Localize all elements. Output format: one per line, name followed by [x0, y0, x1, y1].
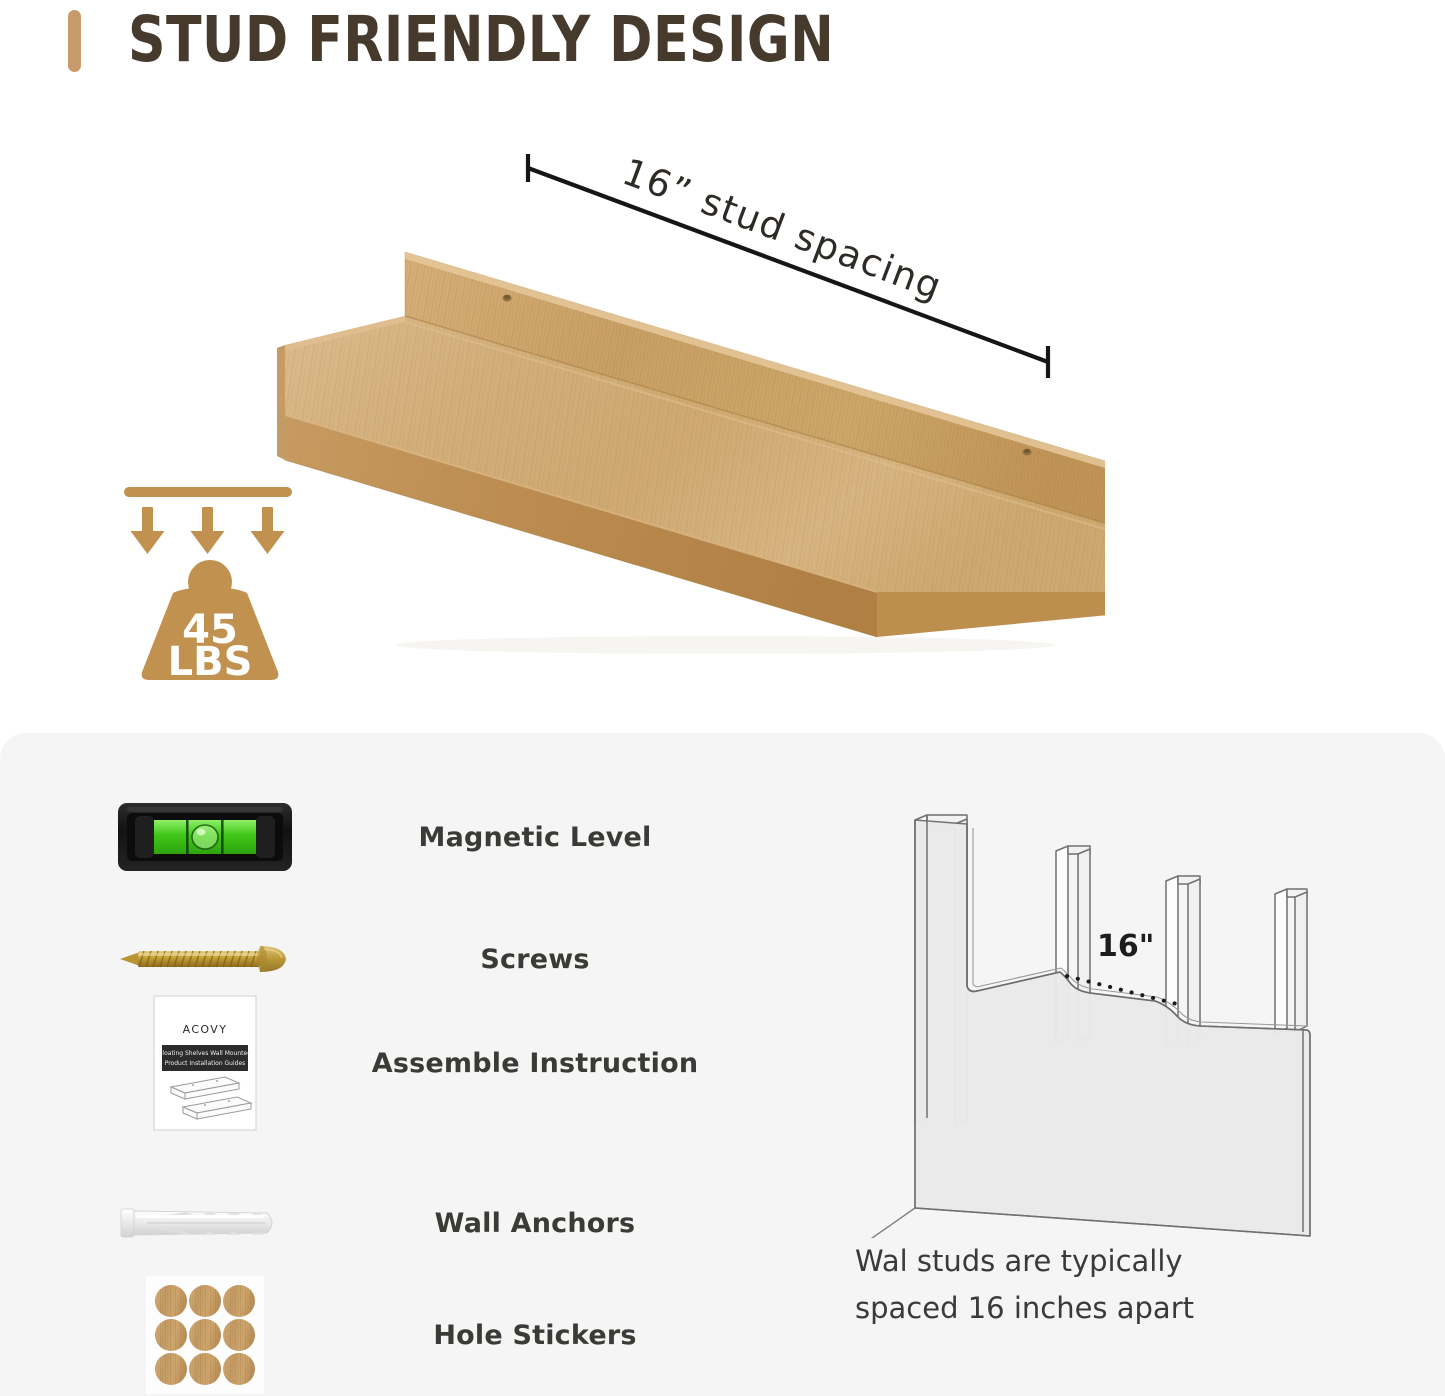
wall-caption-line-1: Wal studs are typically [855, 1238, 1355, 1285]
weight-unit: LBS [168, 639, 253, 685]
wall-caption: Wal studs are typically spaced 16 inches… [855, 1238, 1355, 1332]
title-accent-bar [68, 10, 81, 72]
accessory-item-hole-stickers: Hole Stickers [90, 1281, 750, 1389]
accessory-list: Magnetic Level [90, 773, 750, 1373]
stud [1275, 889, 1307, 1034]
page-title: STUD FRIENDLY DESIGN [128, 3, 834, 76]
infographic-page: STUD FRIENDLY DESIGN [0, 0, 1445, 1396]
booklet-banner-line1: Floating Shelves Wall Mounted [159, 1050, 251, 1057]
hero-section: 16” stud spacing [0, 100, 1445, 733]
drywall-panel [915, 815, 1310, 1236]
wall-caption-line-2: spaced 16 inches apart [855, 1285, 1355, 1332]
stud-spacing-label: 16" [1097, 929, 1154, 964]
accessory-item-magnetic-level: Magnetic Level [90, 783, 750, 891]
booklet-banner-line2: Product Installation Guides [165, 1060, 246, 1067]
accessory-item-wall-anchors: Wall Anchors [90, 1169, 750, 1277]
accessory-label: Magnetic Level [320, 822, 750, 853]
hole-sticker-icon [90, 1281, 320, 1389]
accessory-label: Assemble Instruction [320, 1048, 750, 1079]
weight-capacity-icon: 45 LBS [110, 475, 310, 685]
accessory-label: Hole Stickers [320, 1320, 750, 1351]
booklet-brand: ACOVY [183, 1023, 228, 1036]
accessory-item-instruction: ACOVY Floating Shelves Wall Mounted Prod… [90, 1009, 750, 1117]
accessories-card: Magnetic Level [0, 733, 1445, 1396]
wall-studs-diagram: 16" [855, 788, 1335, 1238]
instruction-booklet-icon: ACOVY Floating Shelves Wall Mounted Prod… [90, 1009, 320, 1117]
header: STUD FRIENDLY DESIGN [0, 0, 1445, 100]
accessory-label: Wall Anchors [320, 1208, 750, 1239]
accessory-label: Screws [320, 944, 750, 975]
load-bar [124, 487, 292, 497]
sticker-grid [155, 1285, 255, 1385]
magnetic-level-icon [90, 783, 320, 891]
wall-anchor-icon [90, 1169, 320, 1277]
shelf-product-image [255, 140, 1105, 660]
load-arrows [131, 507, 285, 554]
